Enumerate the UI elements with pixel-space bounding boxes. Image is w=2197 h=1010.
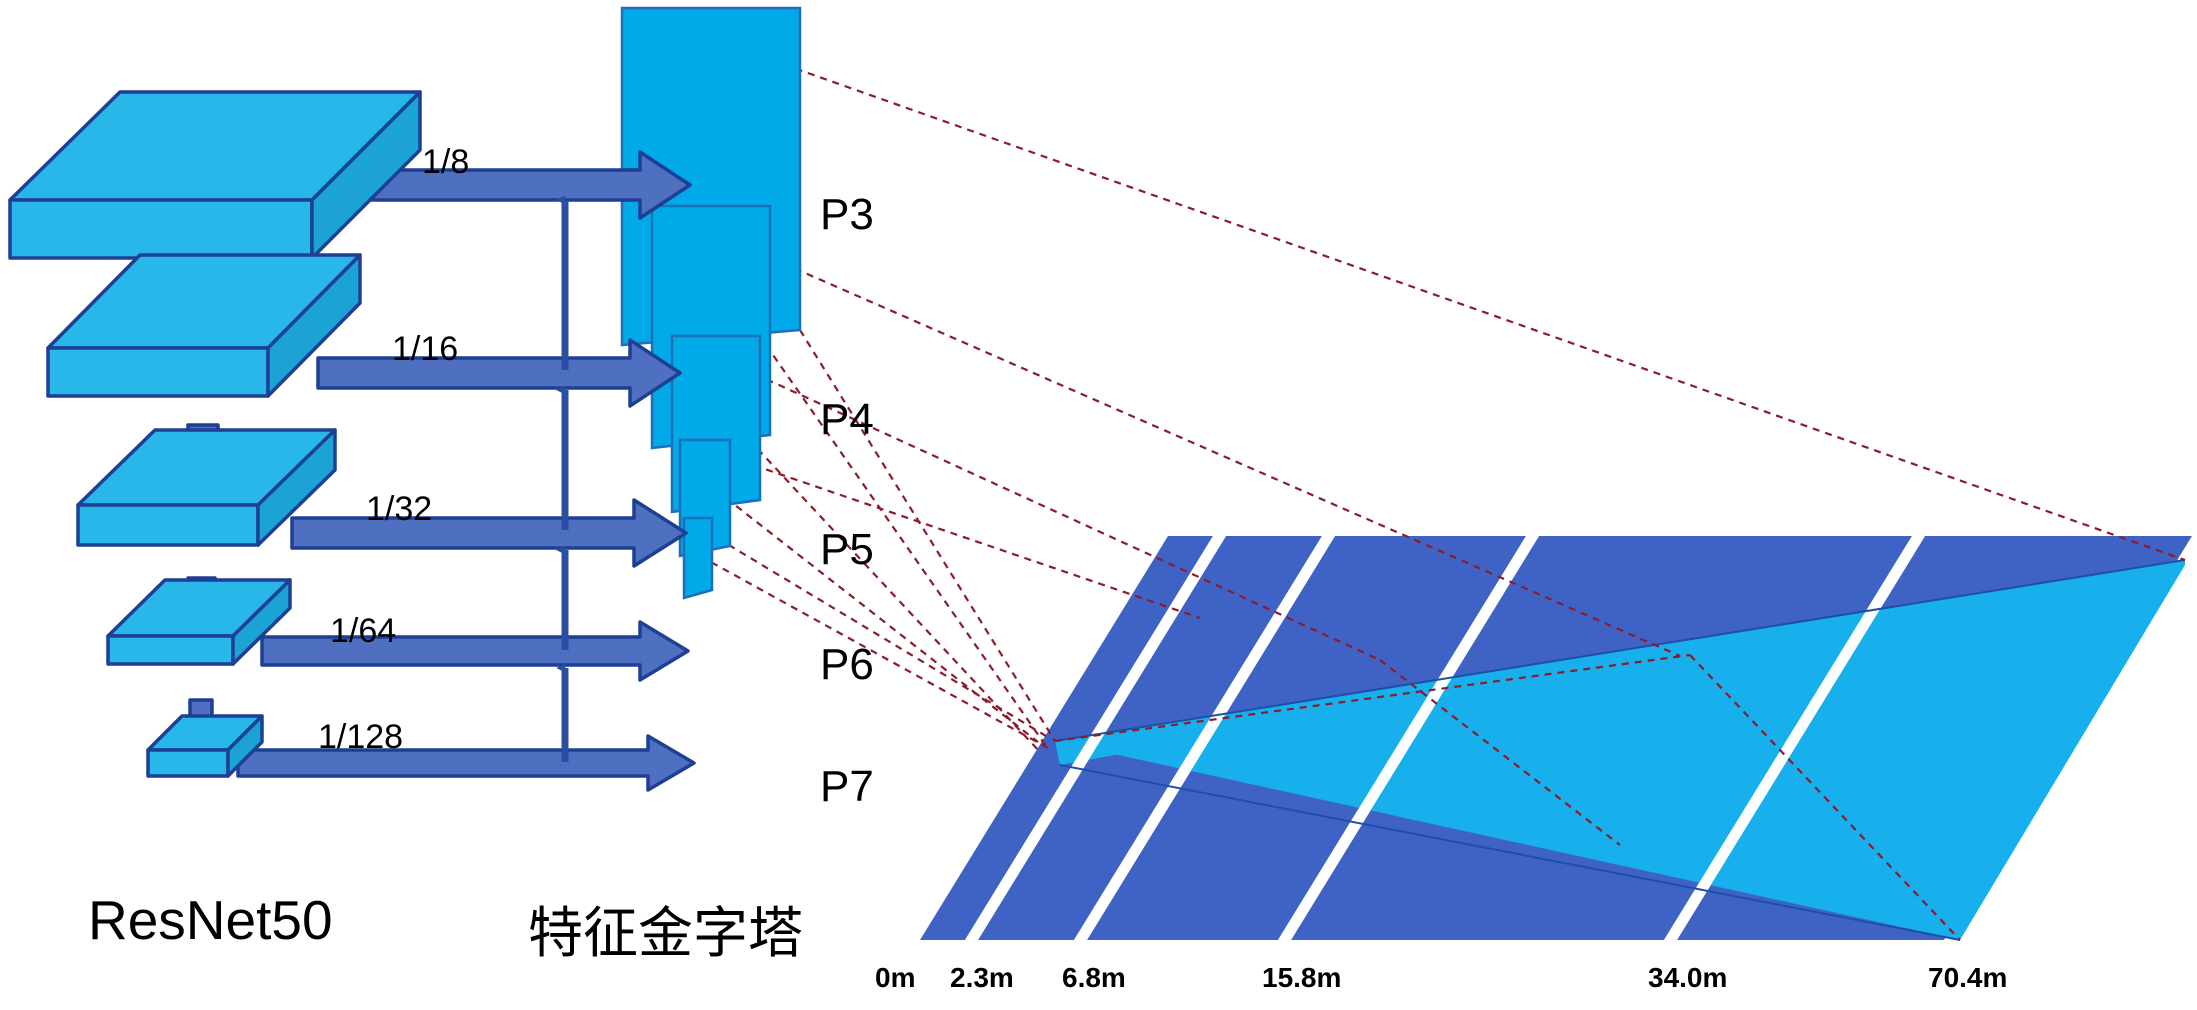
- backbone-stage-c4[interactable]: [48, 255, 360, 396]
- pyramid-label-p7: P7: [820, 762, 874, 812]
- stride-label-c6: 1/64: [330, 612, 396, 651]
- backbone-stage-c4-front: [48, 348, 268, 396]
- backbone-stack: [10, 92, 420, 776]
- distance-tick-4: 34.0m: [1648, 962, 1727, 994]
- pyramid-label-p4: P4: [820, 395, 874, 445]
- pyramid-label-p3: P3: [820, 190, 874, 240]
- diagram-canvas: 1/8 1/16 1/32 1/64 1/128 P3 P4 P5 P6 P7 …: [0, 0, 2197, 1010]
- distance-tick-1: 2.3m: [950, 962, 1014, 994]
- lateral-arrow-c7: [238, 736, 694, 790]
- backbone-stage-c6-front: [108, 636, 233, 664]
- diagram-svg: [0, 0, 2197, 1010]
- stride-label-c5: 1/32: [366, 490, 432, 529]
- lateral-arrow-c3: [363, 152, 690, 218]
- backbone-stage-c7-front: [148, 750, 228, 776]
- backbone-stage-c5-front: [78, 505, 258, 545]
- projection-line-p7-bottom: [700, 556, 1048, 748]
- projection-line-p4-bottom: [766, 345, 1046, 746]
- stride-label-c3: 1/8: [422, 143, 469, 182]
- section-title-backbone: ResNet50: [88, 888, 333, 952]
- stride-label-c4: 1/16: [392, 330, 458, 369]
- stride-label-c7: 1/128: [318, 718, 403, 757]
- distance-tick-2: 6.8m: [1062, 962, 1126, 994]
- road-ground-plane: [920, 536, 2192, 940]
- pyramid-plane-p7[interactable]: [684, 518, 712, 598]
- lateral-arrow-c6: [262, 622, 688, 680]
- backbone-stage-c3[interactable]: [10, 92, 420, 258]
- distance-tick-3: 15.8m: [1262, 962, 1341, 994]
- distance-tick-5: 70.4m: [1928, 962, 2007, 994]
- backbone-stage-c3-front: [10, 200, 312, 258]
- lateral-arrow-c5: [292, 500, 686, 566]
- projection-line-p5-bottom: [740, 430, 1040, 752]
- section-title-pyramid: 特征金字塔: [528, 888, 803, 968]
- projection-line-p6-bottom: [726, 498, 1038, 742]
- distance-tick-0: 0m: [875, 962, 915, 994]
- lateral-arrow-c4: [318, 340, 680, 406]
- pyramid-label-p5: P5: [820, 525, 874, 575]
- pyramid-label-p6: P6: [820, 640, 874, 690]
